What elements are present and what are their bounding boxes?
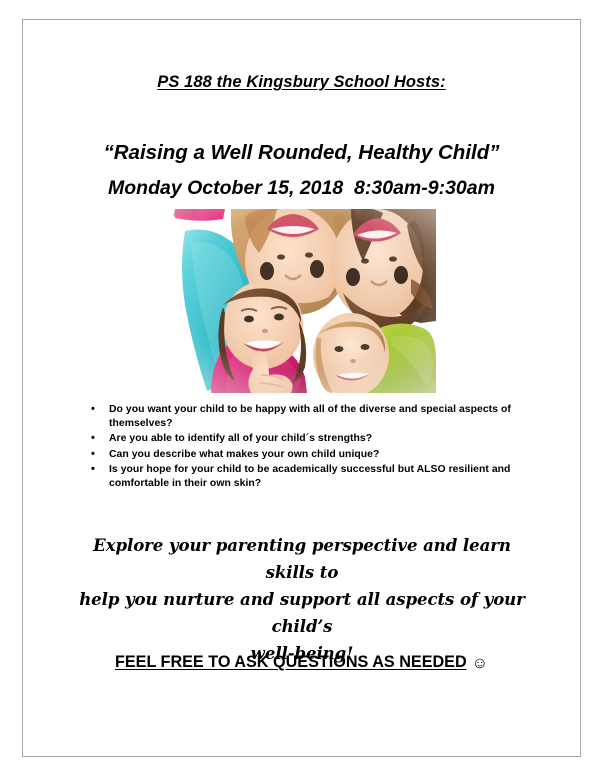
list-item: • Are you able to identify all of your c… bbox=[83, 432, 563, 446]
call-to-action-line-1: Explore your parenting perspective and l… bbox=[67, 532, 537, 586]
bullet-marker: • bbox=[91, 448, 95, 462]
list-item: • Can you describe what makes your own c… bbox=[83, 448, 563, 462]
flyer-content: PS 188 the Kingsbury School Hosts: “Rais… bbox=[23, 20, 580, 756]
bullet-marker: • bbox=[91, 432, 95, 446]
bullet-marker: • bbox=[91, 403, 95, 417]
host-line: PS 188 the Kingsbury School Hosts: bbox=[23, 73, 580, 92]
bullet-marker: • bbox=[91, 463, 95, 477]
footer-note: FEEL FREE TO ASK QUESTIONS AS NEEDED☺ bbox=[23, 653, 580, 673]
questions-list: • Do you want your child to be happy wit… bbox=[83, 403, 563, 493]
footer-note-text: FEEL FREE TO ASK QUESTIONS AS NEEDED bbox=[115, 653, 467, 671]
list-item-text: Do you want your child to be happy with … bbox=[109, 404, 511, 429]
call-to-action: Explore your parenting perspective and l… bbox=[67, 532, 537, 667]
smiley-face-icon: ☺ bbox=[472, 655, 488, 673]
flyer-page: PS 188 the Kingsbury School Hosts: “Rais… bbox=[0, 0, 604, 781]
children-photo-illustration bbox=[167, 209, 436, 393]
event-date-time: Monday October 15, 2018 8:30am-9:30am bbox=[23, 177, 580, 200]
list-item-text: Is your hope for your child to be academ… bbox=[109, 464, 510, 489]
children-photo bbox=[167, 209, 436, 393]
event-title: “Raising a Well Rounded, Healthy Child” bbox=[23, 141, 580, 165]
list-item-text: Can you describe what makes your own chi… bbox=[109, 449, 379, 460]
list-item-text: Are you able to identify all of your chi… bbox=[109, 433, 372, 444]
list-item: • Do you want your child to be happy wit… bbox=[83, 403, 563, 430]
list-item: • Is your hope for your child to be acad… bbox=[83, 463, 563, 490]
host-line-text: PS 188 the Kingsbury School Hosts: bbox=[157, 73, 446, 91]
call-to-action-line-2: help you nurture and support all aspects… bbox=[67, 586, 537, 640]
